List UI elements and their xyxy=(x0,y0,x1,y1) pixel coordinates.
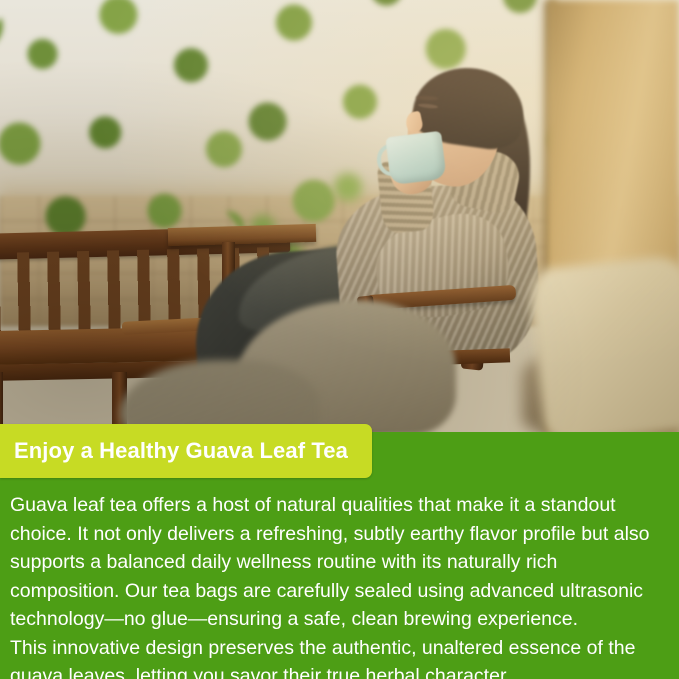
body-copy: Guava leaf tea offers a host of natural … xyxy=(10,491,672,679)
heading-badge: Enjoy a Healthy Guava Leaf Tea xyxy=(0,424,372,478)
cushion xyxy=(527,254,679,433)
body-paragraph-1: Guava leaf tea offers a host of natural … xyxy=(10,491,672,634)
product-banner: Enjoy a Healthy Guava Leaf Tea Guava lea… xyxy=(0,0,679,679)
body-paragraph-2: This innovative design preserves the aut… xyxy=(10,634,672,679)
page-title: Enjoy a Healthy Guava Leaf Tea xyxy=(0,438,348,464)
tea-mug xyxy=(385,131,446,185)
lifestyle-photo xyxy=(0,0,679,433)
